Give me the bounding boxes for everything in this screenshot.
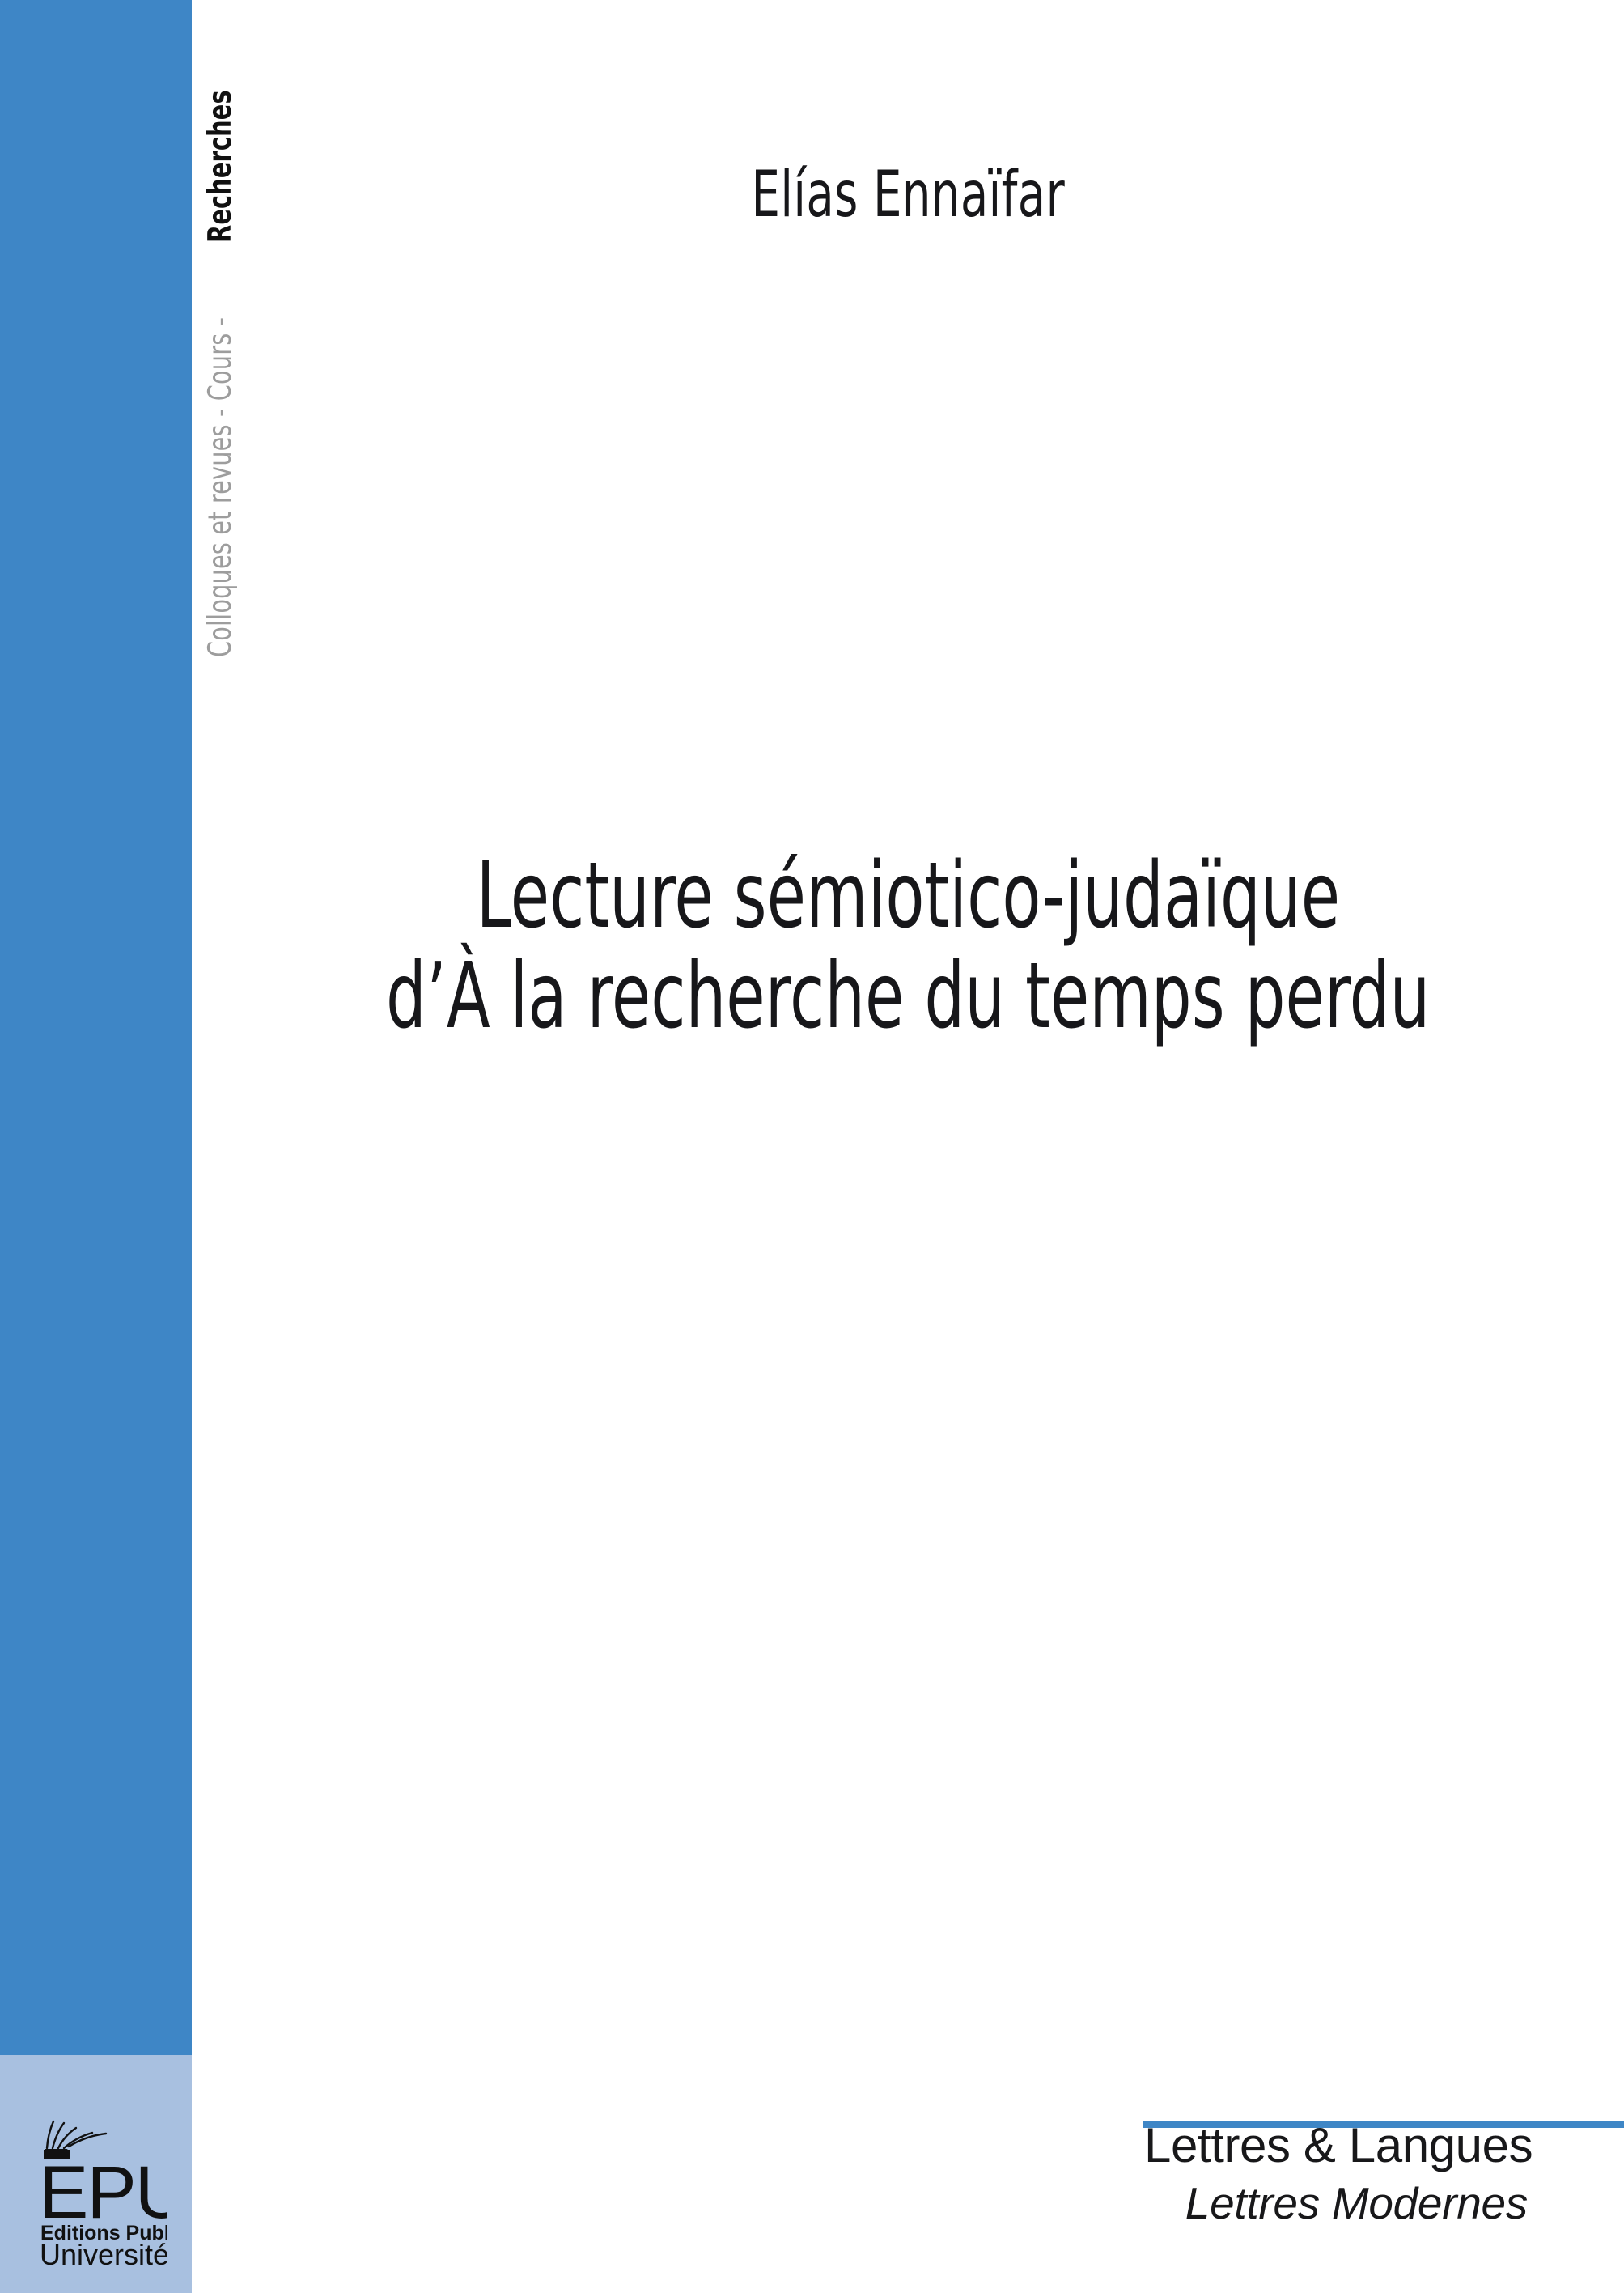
book-title: Lecture sémiotico-judaïque d’À la recher… [192, 846, 1624, 1047]
book-cover: Colloques et revues - Cours - Recherches… [0, 0, 1624, 2293]
book-title-line-1: Lecture sémiotico-judaïque [192, 846, 1624, 946]
series-main-label: Lettres & Langues [1144, 2116, 1528, 2176]
author-name: Elías Ennaïfar [192, 159, 1624, 231]
collection-prefix-label: Colloques et revues - Cours - [192, 317, 250, 657]
book-pages-icon [47, 2121, 106, 2148]
left-color-band [0, 0, 192, 2055]
book-title-line-1-text: Lecture sémiotico-judaïque [476, 846, 1340, 946]
book-title-line-2: d’À la recherche du temps perdu [192, 946, 1624, 1047]
series-block: Lettres & Langues Lettres Modernes [1144, 2116, 1528, 2231]
publisher-logo-epu: EPU Editions Publibook Université [29, 2114, 167, 2268]
series-sub-label: Lettres Modernes [1144, 2176, 1528, 2231]
book-title-line-2-text: d’À la recherche du temps perdu [386, 946, 1430, 1047]
publisher-name-line-2-text: Université [40, 2238, 167, 2268]
author-name-text: Elías Ennaïfar [751, 159, 1065, 231]
